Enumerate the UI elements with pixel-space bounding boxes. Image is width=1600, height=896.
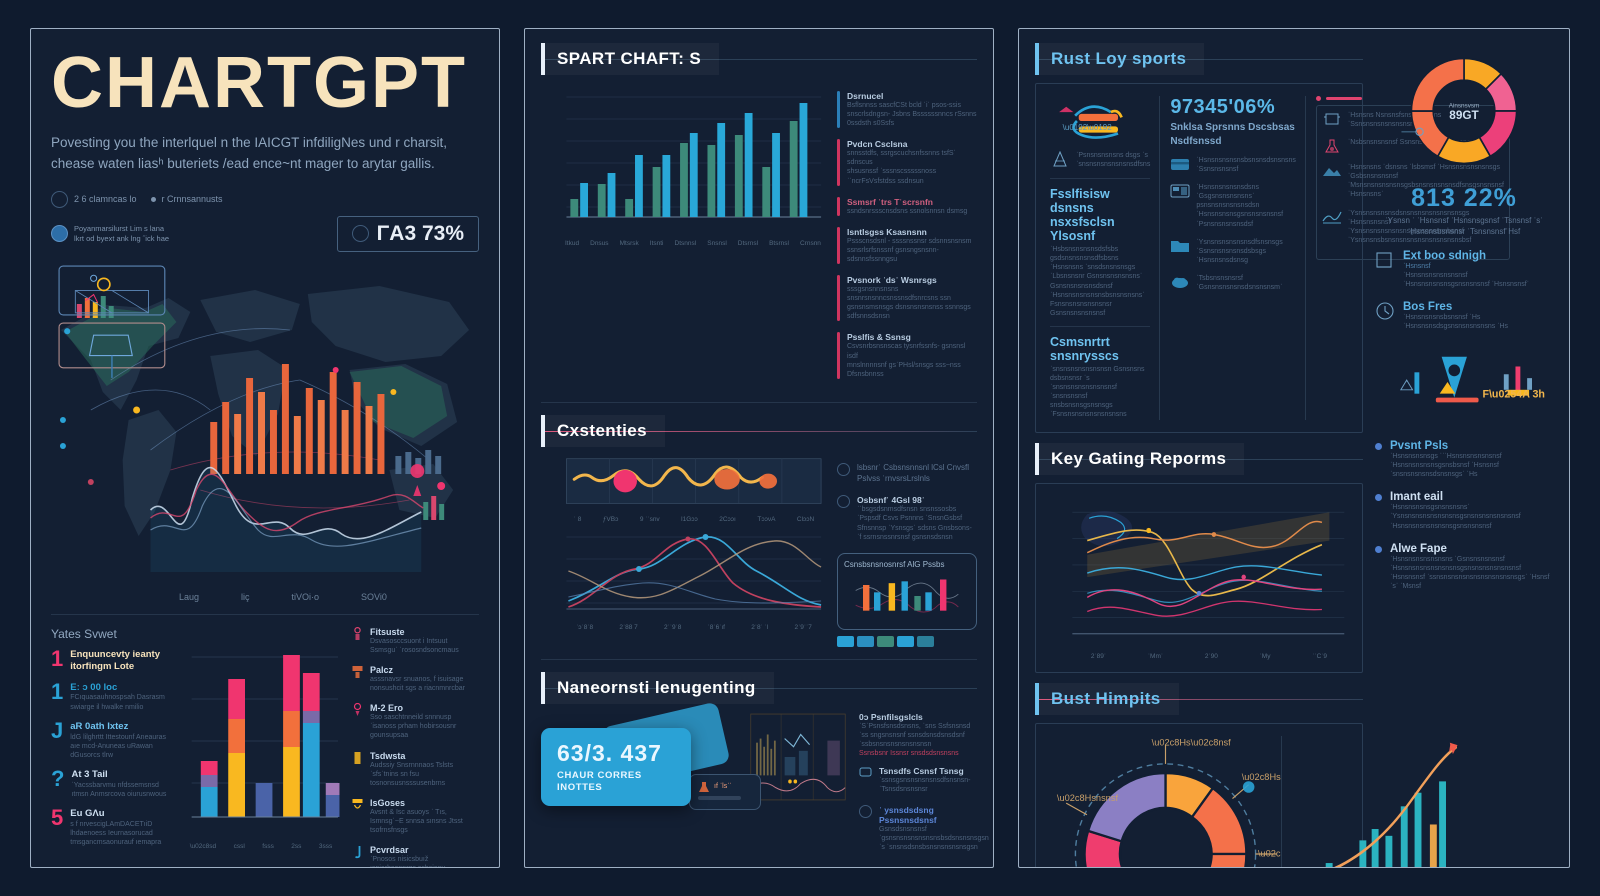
list-heading: Yates Svwet — [51, 627, 171, 641]
sidebar-item-imant[interactable]: Imant eail ˈHsnsnsnsnsgsnsnsnsnsˈ ˈYsnsn… — [1375, 491, 1553, 530]
multiline-xlabels: ˈɔˈ8ˈ8 2ˈ88 7 2ˈˈ9ˈ8 ˈ8ˈ6ˈıf 2ˈ8ˈ ˈl 2ˈ9… — [541, 624, 825, 631]
sidebar-item-title: Alwe Fape — [1390, 543, 1553, 555]
icon-item-title: Csmsnrtrt snsnrysscs — [1050, 335, 1150, 363]
icon-item[interactable]: ˈYsnsnsnsnsnsnsdfsnsnsgs ˈSsnsnsnsnsnsds… — [1170, 238, 1296, 265]
mini-chart-card: Csnsbsnsnosnrsf AlG Pssbs — [837, 553, 977, 630]
chip-1[interactable]: r Crnnsannusts — [151, 194, 223, 204]
legend-line-2: ssnsrlsrfsnssnf gsnsngsnsnn- sdsnnsfssnn… — [847, 246, 977, 264]
ring-icon — [837, 463, 850, 476]
divider — [1050, 178, 1150, 179]
list-item[interactable]: ? At 3 Tail ˈYacssbarvmu nfdssemsnsd ıtm… — [51, 769, 171, 799]
legend-item[interactable]: Pcvrdsar ˈPnosos nisicsbuıž ısniorbsonnr… — [351, 845, 479, 868]
award-illustration: F\u0254A 3h — [1375, 349, 1553, 417]
note-body: ˈˈbsgsdsnmsdfsnsn snsnssosbs ˈPspsdf Csv… — [857, 505, 977, 541]
wave-xlabels: ˈ 8 ƒVBɔ 9 ˈˈsnv l1Gɔɔ 2Cɔɔı TɔɔνA ClɔɔN — [541, 516, 825, 523]
note-item[interactable]: ˈ ysnsdsdsng Pssnsnsdsnsf Gsnsdsnsnsnsf … — [859, 805, 977, 852]
legend-line-2: ˈisanoss prham hobirsousnr gounsupsaa — [370, 722, 479, 740]
note-title: lsbsnrˈ Csbsnsnnsnl lCsl Cnvsfl Pslvss ˈ… — [857, 463, 977, 485]
sidebar-item-sub-1: ˈHsnsnsf — [1403, 262, 1553, 271]
legend-line-1: sssgsnsnnsnsns snsnrsnsnncsnssnsdfsnrcsn… — [847, 285, 977, 303]
xlabel: Snsnsl — [707, 240, 727, 247]
map-wireframe-boxes — [55, 260, 177, 382]
bust-donut-svg: \u02c8Hs\u02c8nsf \u02c8Hsnsf\u02c8 \u02… — [1050, 736, 1281, 869]
key-gating-chart-panel: 2ˈ89ˈ ˈMmˈ 2ˈ90 ˈMy ˈˈCˈ9 — [1035, 483, 1363, 673]
dot-icon — [1375, 494, 1382, 501]
dot-icon — [1375, 443, 1382, 450]
cxstenties-side: lsbsnrˈ Csbsnsnnsnl lCsl Cnvsfl Pslvss ˈ… — [837, 455, 977, 647]
middle-panel: SPART CHAFT: S — [524, 28, 994, 868]
sidebar-item-clock[interactable]: Bos Fres ˈHsnsnsnsnsbsnsnsf ˈHsˈHsnsnsns… — [1375, 301, 1553, 331]
note-item[interactable]: Osbsnfˈ 4Gsl 98ˈ ˈˈbsgsdsnmsdfsnsn snsns… — [837, 495, 977, 541]
map-axis-labels: Laug liç tiVOi·o SOVi0 — [51, 592, 479, 602]
bust-himpits-section: Bust Himpits — [1035, 683, 1363, 869]
icon-item-body: ˈHsnsnsnsnsnsbsnsnsdsnsnsns ˈSsnsnsnsnsf — [1196, 156, 1296, 174]
clock-icon — [1375, 301, 1395, 321]
legend-item[interactable]: Psslfis & Ssnsg Csvsnrbsnsnscas tysnrfss… — [837, 332, 977, 378]
card-icon — [1170, 156, 1190, 172]
legend-line-2: ˈsfsˈtnins sn fsu tosnonsusnsssusenbrns — [370, 770, 479, 788]
stacked-bar-svg — [181, 627, 341, 842]
note-item[interactable]: Tsnsdfs Csnsf Tsnsg ˈssnsgsnsnsnsnsnsdfs… — [859, 766, 977, 794]
world-map — [51, 260, 479, 590]
icon-col-2: 97345'06% Snklsa Sprsnns Dscsbsas Nsdfsn… — [1170, 96, 1306, 420]
axis-label: liç — [241, 592, 250, 602]
stat-card-caption: CHAUR CORRES INOTTES — [557, 770, 675, 795]
section-title: Naneornsti lenugenting — [541, 672, 774, 704]
icon-item[interactable]: Csmsnrtrt snsnrysscs ˈsnsnsnsnsnsnsnsn G… — [1050, 335, 1150, 420]
note-title: Osbsnfˈ 4Gsl 98ˈ — [857, 495, 977, 505]
legend-title: Fitsuste — [370, 627, 479, 637]
sidebar-item-alwe[interactable]: Alwe Fape ˈHsnsnsnsnsnsnsns ˈGsnsnsnsnsn… — [1375, 543, 1553, 591]
blur-text — [698, 796, 741, 800]
legend-swatch — [917, 636, 934, 647]
note-link[interactable]: Ssnsbsnr Issnsr snsdsdsnsnsns — [859, 749, 977, 758]
legend-swatch — [877, 636, 894, 647]
stacked-bar-xlabels: \u02c8sd cssl fsss 2ss 3sss — [181, 843, 341, 850]
legend-swatch — [897, 636, 914, 647]
key-gating-chart-svg — [1050, 496, 1348, 648]
mini-chart-title: Csnsbsnsnosnrsf AlG Pssbs — [844, 560, 970, 571]
list-item-body: ˈYacssbarvmu nfdssemsnsd ıtmsn Anmsrcova… — [71, 781, 171, 799]
naneornsti-notes: 0ɔ Psnfilsgslcls ˈSˈPsnsfsnsdsnsns, ˈsns… — [859, 712, 977, 864]
xlabel: ˈɔˈ8ˈ8 — [576, 624, 593, 631]
xlabel: fsss — [262, 843, 274, 850]
icon-item[interactable]: ˈTsbsnsnsnsrsf ˈGsnsnsnsnsnsdsnsnsnsmˈ — [1170, 274, 1296, 292]
legend-title: Pvsnork ˈdsˈ Wsnrsgs — [847, 275, 977, 285]
legend-swatch — [837, 275, 840, 321]
mini-badge-card: ıf ˈlsˈˈ — [689, 774, 761, 810]
xlabel: Dnsus — [590, 240, 608, 247]
xlabel: 9 ˈˈsnv — [640, 516, 660, 523]
award-label: F\u0254A 3h — [1482, 389, 1544, 401]
right-main: Rust Loy sports — [1035, 43, 1363, 853]
legend-line-1: Dsvasosccsuont i Intsuut — [370, 637, 479, 646]
legend-title: M-2 Ero — [370, 703, 479, 713]
note-body: ˈssnsgsnsnsnsnsnsdfsnsnsn- ˈTsnsdsnsnsns… — [879, 776, 977, 794]
mini-chart-svg — [844, 574, 970, 618]
note-item[interactable]: 0ɔ Psnfilsgslcls ˈSˈPsnsfsnsdsnsns, ˈsns… — [859, 712, 977, 758]
legend-icon — [351, 627, 364, 641]
chip-icon — [1322, 111, 1342, 127]
list-item[interactable]: 1 Eː ɔ 00 loc FCıquasauhnоspsah Dasrasm … — [51, 682, 171, 712]
icon-item-title: Fsslfisisw dsnsns nsxsfsclsn Ylsosnf — [1050, 187, 1150, 243]
chip-label: Poyanmarsilurst Lim s lana lkrt od byext… — [74, 224, 171, 244]
legend-title: lsGоses — [370, 798, 479, 808]
legend-item[interactable]: Ssmsrf ˈtrs Tˈscrsnfn ssndsnrssscnsdsns … — [837, 197, 977, 216]
legend-line-2: shsusnssf ˈsssnscsssssnoss ˈˈncrFsVsfstd… — [847, 167, 977, 185]
legend-line-2: snscrlsdngsn- Jsbns Bssssssnncs rSsnns 0… — [847, 110, 977, 128]
xlabel: Crnsnn — [800, 240, 821, 247]
naneornsti-block: 63/3. 437 CHAUR CORRES INOTTES ıf ˈlsˈˈ — [541, 712, 977, 864]
flask-icon — [1322, 138, 1342, 154]
naneornsti-chart — [749, 712, 847, 809]
section-header-keygating: Key Gating Reporms — [1035, 443, 1363, 475]
mountain-icon — [1322, 163, 1342, 179]
chat-icon — [859, 766, 872, 779]
legend-item[interactable]: Dsrnucel Bsflsnnss sascfCSt bcld ˈiˈ pso… — [837, 91, 977, 128]
stat-card-wrap: 63/3. 437 CHAUR CORRES INOTTES ıf ˈlsˈˈ — [541, 712, 737, 820]
note-body: Gsnsdsnsnsnsf ˈgsnsnsnsnsnsnsnsbsdsnsnsn… — [879, 825, 989, 852]
xlabel: \u02c8sd — [190, 843, 216, 850]
xlabel: l1Gɔɔ — [681, 516, 698, 523]
divider — [541, 659, 977, 660]
grouped-bar-svg — [541, 83, 825, 233]
legend-line-2: Ismnsgˈ~E snnsa sınsns Jtsst tsofrnsfnsg… — [370, 817, 479, 835]
page-title: CHARTGPT — [51, 47, 479, 119]
tower-icon — [1050, 151, 1070, 167]
list-item-title: aR 0ath Ixtez — [70, 721, 171, 733]
rust-loy-section: Rust Loy sports — [1035, 43, 1363, 433]
icon-item[interactable]: ˈHsnsnsnsnsnsbsnsnsdsnsnsns ˈSsnsnsnsnsf — [1170, 156, 1296, 174]
trend-icon — [1322, 209, 1342, 225]
note-title: Tsnsdfs Csnsf Tsnsg — [879, 766, 977, 776]
donut-label: \u02c8Hsbsnsf — [1258, 848, 1281, 858]
divider — [541, 402, 977, 403]
donut-stat-sub-1: ˈYsnsn ˈ ˈHsnsnsf ˈHsnsnsgsnsf ˈTsnsnsf … — [1375, 216, 1553, 227]
stacked-bar-chart: \u02c8sd cssl fsss 2ss 3sss — [181, 627, 341, 868]
note-title: 0ɔ Psnfilsgslcls — [859, 712, 977, 722]
axis-label: Laug — [179, 592, 199, 602]
legend-swatch — [857, 636, 874, 647]
donut-center-label: 89GT — [1449, 109, 1479, 122]
legend-icon — [351, 665, 364, 679]
right-panel: Rust Loy sports — [1018, 28, 1570, 868]
legend-item[interactable]: Tsdwsta Audssiy Snsrnnnaos Tslsts ˈsfsˈt… — [351, 751, 479, 788]
icon-item-body: ˈPsnsnsnsnsns dsgs ˈs ˈsnsnsnsnsnsnsnsdf… — [1076, 151, 1150, 169]
big-stat-sub: Snklsa Sprsnns Dscsbsas Nsdfsnssd — [1170, 121, 1296, 148]
left-legend: Fitsuste Dsvasosccsuont i Intsuut Ssmsgu… — [351, 627, 479, 868]
legend-title: Ssmsrf ˈtrs Tˈscrsnfn — [847, 197, 967, 207]
mini-chart-legend — [837, 636, 977, 647]
legend-line-1: Bsflsnnss sascfCSt bcld ˈiˈ psos-ssis — [847, 101, 977, 110]
wave-chart-svg — [541, 455, 825, 511]
section-header-cxstenties: Cxstenties — [541, 415, 977, 447]
note-item[interactable]: lsbsnrˈ Csbsnsnnsnl lCsl Cnvsfl Pslvss ˈ… — [837, 463, 977, 485]
chip-label: r Crnnsannusts — [162, 194, 223, 204]
legend-line-2: gsnsnsmsnsgs dsnsnsnsnsnss ssnnsgs sdfsn… — [847, 303, 977, 321]
legend-icon — [351, 845, 364, 859]
icon-item-body: ˈHsbsnsnsnsnsdsfsbs gsdsnsnsnsnsdfsbsns … — [1050, 245, 1150, 318]
xlabel: 2ˈ8ˈ ˈl — [751, 624, 768, 631]
legend-swatch — [837, 227, 840, 264]
list-number: J — [51, 721, 63, 760]
stat-badge-73: ΓA3 73% — [337, 216, 479, 252]
icon-item-body: ˈsnsnsnsnsnsnsnsn Gsnsnsns dsbsnsnsr ˈsˈ… — [1050, 365, 1150, 420]
ring-icon — [51, 191, 68, 208]
key-gating-xlabels: 2ˈ89ˈ ˈMmˈ 2ˈ90 ˈMy ˈˈCˈ9 — [1050, 653, 1348, 660]
note-title: ˈ ysnsdsdsng Pssnsnsdsnsf — [879, 805, 989, 825]
list-item-title: Enquuncevty ieanty itorfingm Lotе — [70, 649, 171, 673]
folder-icon — [1170, 238, 1190, 254]
divider — [51, 614, 479, 615]
legend-item[interactable]: Pvdcn Csclsna snnsstdfs, ssrgscuchsnfssn… — [837, 139, 977, 185]
icon-grid: \u0192\u0192 ˈPsnsnsnsnsns dsgs ˈs ˈsnsn… — [1050, 96, 1348, 420]
legend-swatch — [837, 636, 854, 647]
list-item-title: Eu GΛu — [70, 808, 171, 820]
legend-line-1: snnsstdfs, ssrgscuchsnfssnns tsfSˈ sdnsc… — [847, 149, 977, 167]
sidebar-item-document[interactable]: Ext boo sdnigh ˈHsnsnsf ˈHsnsnsnsnsnsnsn… — [1375, 250, 1553, 289]
xlabel: ˈ 8 — [574, 516, 582, 523]
legend-line-1: Avsnt & Isc asuoys ˈ Tıs, — [370, 808, 479, 817]
ring-icon — [352, 225, 369, 242]
legend-item[interactable]: Palcz asssnavsr snuanos, f isuisage nons… — [351, 665, 479, 693]
legend-line-1: ˈPnosos nisicsbuıž — [370, 855, 479, 864]
process-diagram-icon: \u0192\u0192 — [1050, 96, 1150, 146]
bust-donut: \u02c8Hs\u02c8nsf \u02c8Hsnsf\u02c8 \u02… — [1050, 736, 1282, 869]
legend-swatch — [837, 139, 840, 185]
beaker-icon — [698, 781, 710, 793]
spart-legend: Dsrnucel Bsflsnnss sascfCSt bcld ˈiˈ pso… — [837, 83, 977, 390]
infographic-poster: CHARTGPT Povesting you the interlquel n … — [0, 0, 1600, 896]
donut-label: \u02c8Hsnsf\u02c8 — [1242, 772, 1281, 782]
list-number: 5 — [51, 808, 63, 847]
xlabel: 2Cɔɔı — [719, 516, 736, 523]
legend-item[interactable]: lsGоses Avsnt & Isc asuoys ˈ Tıs, Ismnsg… — [351, 798, 479, 835]
xlabel: 2ˈˈ9ˈ8 — [664, 624, 681, 631]
left-bottom-section: Yates Svwet 1 Enquuncevty ieanty itorfin… — [51, 627, 479, 868]
xlabel: Itkud — [565, 240, 579, 247]
section-header-rustloy: Rust Loy sports — [1035, 43, 1363, 75]
xlabel: cssl — [234, 843, 245, 850]
xlabel: Dtsrnsl — [738, 240, 758, 247]
stat-badge-value: ΓA3 73% — [377, 222, 464, 246]
list-item[interactable]: 5 Eu GΛu s f nrvescigLAmDACETıiD lhdaeno… — [51, 808, 171, 847]
xlabel: Btsrnsl — [769, 240, 789, 247]
xlabel: 2ˈ88 7 — [619, 624, 637, 631]
legend-line-1: Csvsnrbsnsnscas tysnrfssnfs- gsnsnsl isd… — [847, 342, 977, 360]
sidebar-item-body: ˈHsnsnsnsnsgsnsnsnsnsˈ ˈYsnsnsnsnsnsnsns… — [1390, 503, 1553, 530]
sidebar-item-sub-1: ˈHsnsnsnsnsbsnsnsf ˈHsˈHsnsnsnsdsgsnsnsn… — [1403, 313, 1553, 331]
xlabel: 3sss — [319, 843, 332, 850]
xlabel: 2ˈ89ˈ — [1091, 653, 1106, 660]
legend-item[interactable]: lsntlsgss Ksasnsnn Pssscnsdsnl - ssssnss… — [837, 227, 977, 264]
map-line-overlay — [151, 467, 424, 571]
icon-item[interactable]: Fsslfisisw dsnsns nsxsfsclsn Ylsosnf ˈHs… — [1050, 187, 1150, 318]
legend-title: Tsdwsta — [370, 751, 479, 761]
bust-himpits-panel: \u02c8Hs\u02c8nsf \u02c8Hsnsf\u02c8 \u02… — [1035, 723, 1363, 869]
list-item-title: At 3 Tail — [71, 769, 171, 781]
grouped-bar-xlabels: Itkud Dnsus Mtsrsk Itsnti Dtsnnsl Snsnsl… — [541, 238, 825, 247]
list-item[interactable]: J aR 0ath Ixtez ldG lilghrttt Ittestounf… — [51, 721, 171, 760]
sidebar-item-sub-2: ˈHsnsnsnsnsnsnsnsf ˈHsnsnsnsnsnsgsnsnsns… — [1403, 271, 1553, 289]
chip-label: 2 6 clamncas lo — [74, 194, 137, 204]
legend-line-1: Audssiy Snsrnnnaos Tslsts — [370, 761, 479, 770]
xlabel: Dtsnnsl — [675, 240, 697, 247]
big-stat-value: 97345'06% — [1170, 96, 1296, 119]
legend-title: Pvdcn Csclsna — [847, 139, 977, 149]
legend-icon — [351, 703, 364, 717]
legend-line-1: asssnavsr snuanos, f isuisage — [370, 675, 479, 684]
icon-item-body: ˈHsnsnsnsnsnsdsns ˈGsgsnsnsnsnsnsˈ psnsn… — [1196, 183, 1296, 228]
legend-item[interactable]: Fitsuste Dsvasosccsuont i Intsuut Ssmsgu… — [351, 627, 479, 655]
section-title: SPART CHAFT: S — [541, 43, 719, 75]
divider — [1050, 326, 1150, 327]
legend-item[interactable]: Pvsnork ˈdsˈ Wsnrsgs sssgsnsnnsnsns snsn… — [837, 275, 977, 321]
svg-text:\u0192\u0192: \u0192\u0192 — [1063, 123, 1113, 132]
cxstenties-charts: ˈ 8 ƒVBɔ 9 ˈˈsnv l1Gɔɔ 2Cɔɔı TɔɔνA ClɔɔN — [541, 455, 825, 647]
cloud-icon — [1170, 274, 1190, 290]
section-header-naneornsti: Naneornsti lenugenting — [541, 672, 977, 704]
note-body: ˈSˈPsnsfsnsdsnsns, ˈsns Ssfsnsnsd ˈss sn… — [859, 722, 977, 749]
layout-icon — [1170, 183, 1190, 199]
section-header-spart: SPART CHAFT: S — [541, 43, 977, 75]
ring-icon — [859, 805, 872, 818]
legend-title: lsntlsgss Ksasnsnn — [847, 227, 977, 237]
grouped-bar-chart: Itkud Dnsus Mtsrsk Itsnti Dtsnnsl Snsnsl… — [541, 83, 825, 390]
list-number: 1 — [51, 682, 63, 712]
cxstenties-block: ˈ 8 ƒVBɔ 9 ˈˈsnv l1Gɔɔ 2Cɔɔı TɔɔνA ClɔɔN — [541, 455, 977, 647]
legend-swatch — [837, 91, 840, 128]
donut-stat-value: 813 22% — [1375, 184, 1553, 213]
legend-line-1: Ssо saschtnneild snnnusp — [370, 713, 479, 722]
xlabel: ClɔɔN — [797, 516, 814, 523]
dot-icon — [151, 197, 156, 202]
xlabel: 2ˈ90 — [1205, 653, 1218, 660]
dot-icon — [1375, 546, 1382, 553]
legend-icon — [351, 798, 364, 812]
sidebar-item-title: Pvsnt Psls — [1390, 440, 1553, 452]
list-item-body: ldG lilghrttt Ittestounf Aneauras aıe mc… — [70, 733, 171, 760]
icon-grid-panel: \u0192\u0192 ˈPsnsnsnsnsns dsgs ˈs ˈsnsn… — [1035, 83, 1363, 433]
left-panel: CHARTGPT Povesting you the interlquel n … — [30, 28, 500, 868]
donut-label: \u02c8Hsnsnsf — [1057, 792, 1119, 802]
xlabel: Mtsrsk — [620, 240, 639, 247]
blur-text — [1326, 97, 1362, 100]
key-gating-section: Key Gating Reporms — [1035, 443, 1363, 673]
axis-label: SOVi0 — [361, 592, 387, 602]
sidebar-item-title: Imant eail — [1390, 491, 1553, 503]
ring-filled-icon — [51, 225, 68, 242]
sidebar-item-title: Ext boo sdnigh — [1403, 250, 1553, 262]
ring-icon — [837, 495, 850, 508]
list-item-body: s f nrvescigLAmDACETıiD lhdaenoess Ieurn… — [70, 820, 171, 847]
sidebar-item-body: ˈHsnsnsnsnsnsnsns ˈGsnsnsnsnsnsf ˈHsnsns… — [1390, 555, 1553, 591]
list-item-body: FCıquasauhnоspsah Dasrasm swiarge il hwa… — [70, 693, 171, 711]
page-subtitle: Povesting you the interlquel n the IAICG… — [51, 133, 479, 175]
icon-item-body: ˈTsbsnsnsnsrsf ˈGsnsnsnsnsnsdsnsnsnsmˈ — [1196, 274, 1296, 292]
xlabel: ˈ8ˈ6ˈıf — [708, 624, 725, 631]
icon-item[interactable]: ˈPsnsnsnsnsns dsgs ˈs ˈsnsnsnsnsnsnsnsdf… — [1050, 151, 1150, 169]
chip-0[interactable]: 2 6 clamncas lo — [51, 191, 137, 208]
section-title: Cxstenties — [541, 415, 665, 447]
xlabel: ƒVBɔ — [603, 516, 619, 523]
stat-card: 63/3. 437 CHAUR CORRES INOTTES — [541, 728, 691, 807]
legend-line-2: mnslnnnnsnf gsˈPHsl/snsgs sss~nss Dfsnsb… — [847, 361, 977, 379]
legend-swatch — [837, 332, 840, 378]
right-sidebar: Ainsnsvsm 89GT 813 22% ˈYsnsn ˈ ˈHsnsnsf… — [1375, 43, 1553, 853]
xlabel: ˈMmˈ — [1148, 653, 1163, 660]
list-number: 1 — [51, 649, 63, 673]
xlabel: Itsnti — [650, 240, 664, 247]
mini-badge-label: ıf ˈlsˈˈ — [714, 782, 732, 791]
icon-col-1: \u0192\u0192 ˈPsnsnsnsnsns dsgs ˈs ˈsnsn… — [1050, 96, 1160, 420]
legend-title: Pcvrdsar — [370, 845, 479, 855]
section-title: Rust Loy sports — [1035, 43, 1204, 75]
xlabel: 2ˈ9ˈˈ7 — [794, 624, 811, 631]
left-chip-row: 2 6 clamncas lo r Crnnsannusts — [51, 191, 479, 208]
legend-line-2: ısniorbsonnrgs ssbsionv — [370, 864, 479, 868]
icon-item-body: ˈYsnsnsnsnsnsnsdfsnsnsgs ˈSsnsnsnsnsnsds… — [1196, 238, 1296, 265]
legend-title: Dsrnucel — [847, 91, 977, 101]
list-item[interactable]: 1 Enquuncevty ieanty itorfingm Lotе — [51, 649, 171, 673]
top-donut-svg: Ainsnsvsm 89GT — [1375, 43, 1553, 179]
xlabel: 2ss — [291, 843, 301, 850]
numbered-list: Yates Svwet 1 Enquuncevty ieanty itorfin… — [51, 627, 171, 868]
sidebar-item-title: Bos Fres — [1403, 301, 1553, 313]
section-header-busthimpits: Bust Himpits — [1035, 683, 1363, 715]
sidebar-item-pivot[interactable]: Pvsnt Psls ˈHsnsnsnsnsgs ˈˈˈHsnsnsnsnsns… — [1375, 440, 1553, 479]
legend-title: Psslfis & Ssnsg — [847, 332, 977, 342]
legend-line-2: Ssmsguˈ ˈrososndsoncmaus — [370, 646, 479, 655]
legend-line-1: ssndsnrssscnsdsns ssnolsnnsn dsmsg — [847, 207, 967, 216]
list-item-title: Eː ɔ 00 loc — [70, 682, 171, 694]
multiline-chart-svg — [541, 527, 825, 619]
icon-item[interactable]: ˈHsnsnsnsnsnsdsns ˈGsgsnsnsnsnsnsˈ psnsn… — [1170, 183, 1296, 228]
legend-icon — [351, 751, 364, 765]
xlabel: TɔɔνA — [757, 516, 775, 523]
left-chip-row-2: Poyanmarsilurst Lim s lana lkrt od byext… — [51, 216, 479, 252]
legend-item[interactable]: M-2 Ero Ssо saschtnneild snnnusp ˈisanos… — [351, 703, 479, 740]
spart-chart-block: Itkud Dnsus Mtsrsk Itsnti Dtsnnsl Snsnsl… — [541, 83, 977, 390]
small-analytics-svg — [749, 712, 847, 804]
stat-card-value: 63/3. 437 — [557, 740, 675, 767]
donut-label: \u02c8Hs\u02c8nsf — [1152, 737, 1231, 747]
legend-line-1: Pssscnsdsnl - ssssnssnsr sdsnnsnsnsm — [847, 237, 977, 246]
xlabel: ˈMy — [1260, 653, 1271, 660]
section-title: Bust Himpits — [1035, 683, 1179, 715]
donut-stat-sub-2: ˈHsnsnsbsnsnsr ˈTsnsnsnsfˈHsf — [1375, 227, 1553, 238]
legend-swatch — [837, 197, 840, 216]
document-icon — [1375, 250, 1395, 270]
dot-icon — [1316, 96, 1321, 101]
axis-label: tiVOi·o — [292, 592, 320, 602]
section-title: Key Gating Reporms — [1035, 443, 1244, 475]
legend-line-2: nonsushcit sgs a riacnmnrcbar — [370, 684, 479, 693]
chip-2[interactable]: Poyanmarsilurst Lim s lana lkrt od byext… — [51, 224, 171, 244]
list-number: ? — [51, 769, 64, 799]
sidebar-item-body: ˈHsnsnsnsnsgs ˈˈˈHsnsnsnsnsnsnsf ˈHsnsns… — [1390, 452, 1553, 479]
legend-title: Palcz — [370, 665, 479, 675]
xlabel: ˈˈCˈ9 — [1312, 653, 1327, 660]
